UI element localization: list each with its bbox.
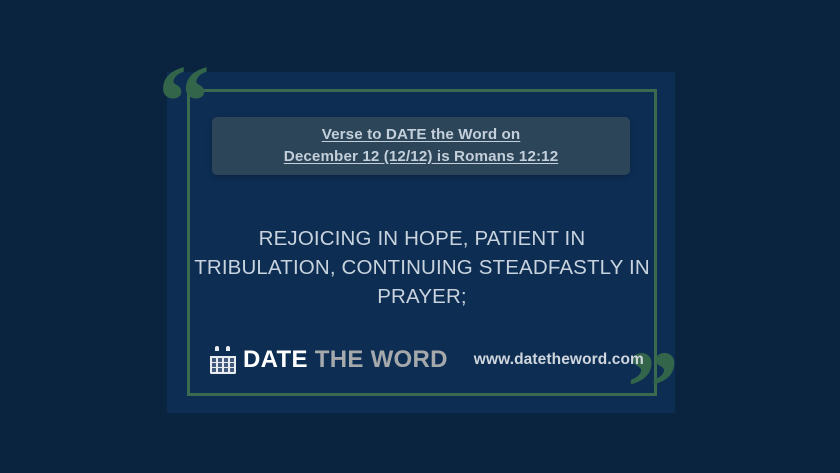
calendar-header (210, 351, 236, 356)
verse-title-plaque: Verse to DATE the Word on December 12 (1… (212, 117, 630, 175)
website-url: www.datetheword.com (474, 351, 644, 369)
open-quote-icon: “ (158, 50, 210, 154)
brand-logo-text: DATE THE WORD (243, 348, 448, 372)
open-quote-backdrop (0, 0, 104, 102)
close-quote-backdrop (0, 102, 104, 190)
calendar-icon (210, 346, 236, 374)
brand-word-date: DATE (243, 346, 308, 373)
verse-body-text: REJOICING IN HOPE, PATIENT IN TRIBULATIO… (190, 224, 654, 311)
footer-bar: DATE THE WORD www.datetheword.com (210, 341, 650, 379)
page-title: Verse to DATE the Word on December 12 (1… (284, 124, 559, 167)
verse-card-canvas: “ ” Verse to DATE the Word on December 1… (0, 0, 840, 473)
brand-word-theword: THE WORD (315, 346, 448, 373)
calendar-grid (212, 358, 234, 372)
